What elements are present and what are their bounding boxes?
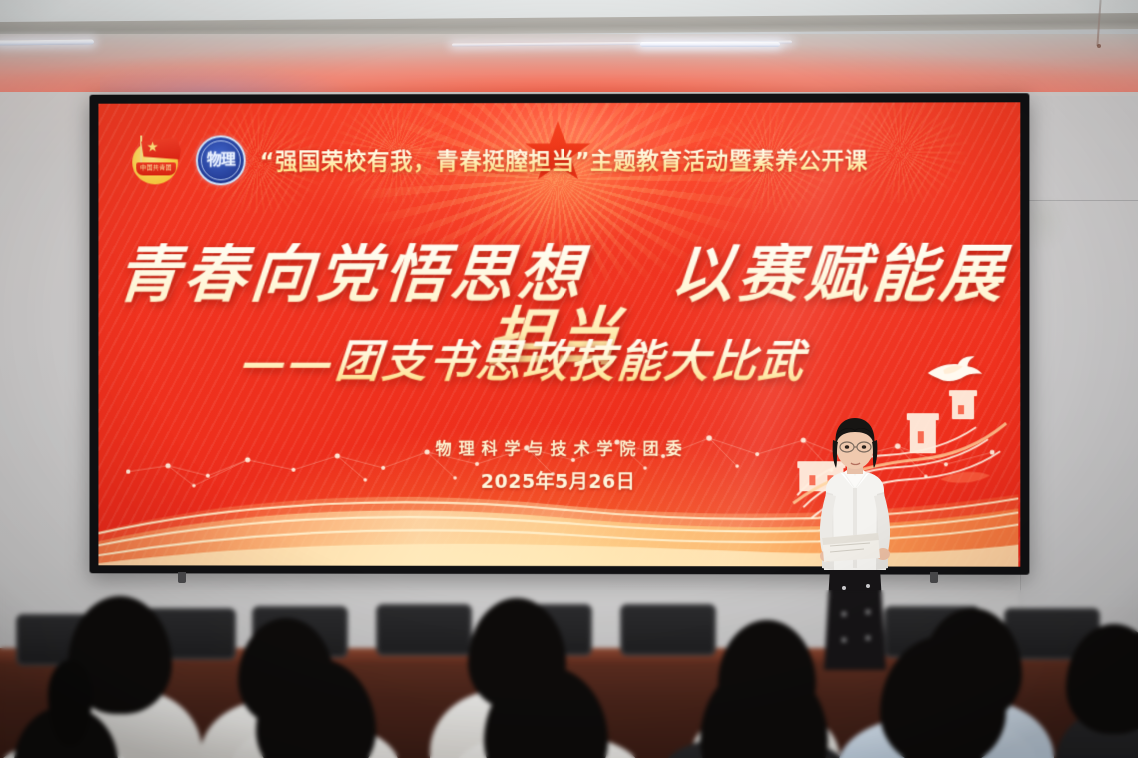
chair [376, 604, 472, 656]
chair [620, 604, 716, 656]
communist-youth-league-emblem-icon: 中国共青团 [128, 134, 184, 186]
banner-header-title: “强国荣校有我，青春挺膣担当”主题教育活动暨素养公开课 [260, 143, 997, 176]
banner-header-row: 中国共青团 物理 “强国荣校有我，青春挺膣担当”主题教育活动暨素养公开课 [128, 128, 996, 191]
university-seal-icon: 物理 [196, 135, 246, 185]
white-dove-icon [926, 353, 984, 387]
wall-smudge [1028, 200, 1068, 250]
screen-mount-left [178, 572, 186, 583]
banner-sub-title: ——团支书思政技能大比武 [98, 339, 1020, 384]
ceiling-light-right [640, 42, 780, 47]
ceiling-light-left [0, 39, 94, 45]
screen-mount-right [930, 572, 938, 583]
league-ribbon-label: 中国共青团 [136, 162, 176, 175]
lecture-hall-photo: 中国共青团 物理 “强国荣校有我，青春挺膣担当”主题教育活动暨素养公开课 青春向… [0, 0, 1138, 758]
student-presenter [800, 418, 910, 698]
university-seal-label: 物理 [196, 135, 246, 185]
wall-mark [1097, 44, 1101, 48]
